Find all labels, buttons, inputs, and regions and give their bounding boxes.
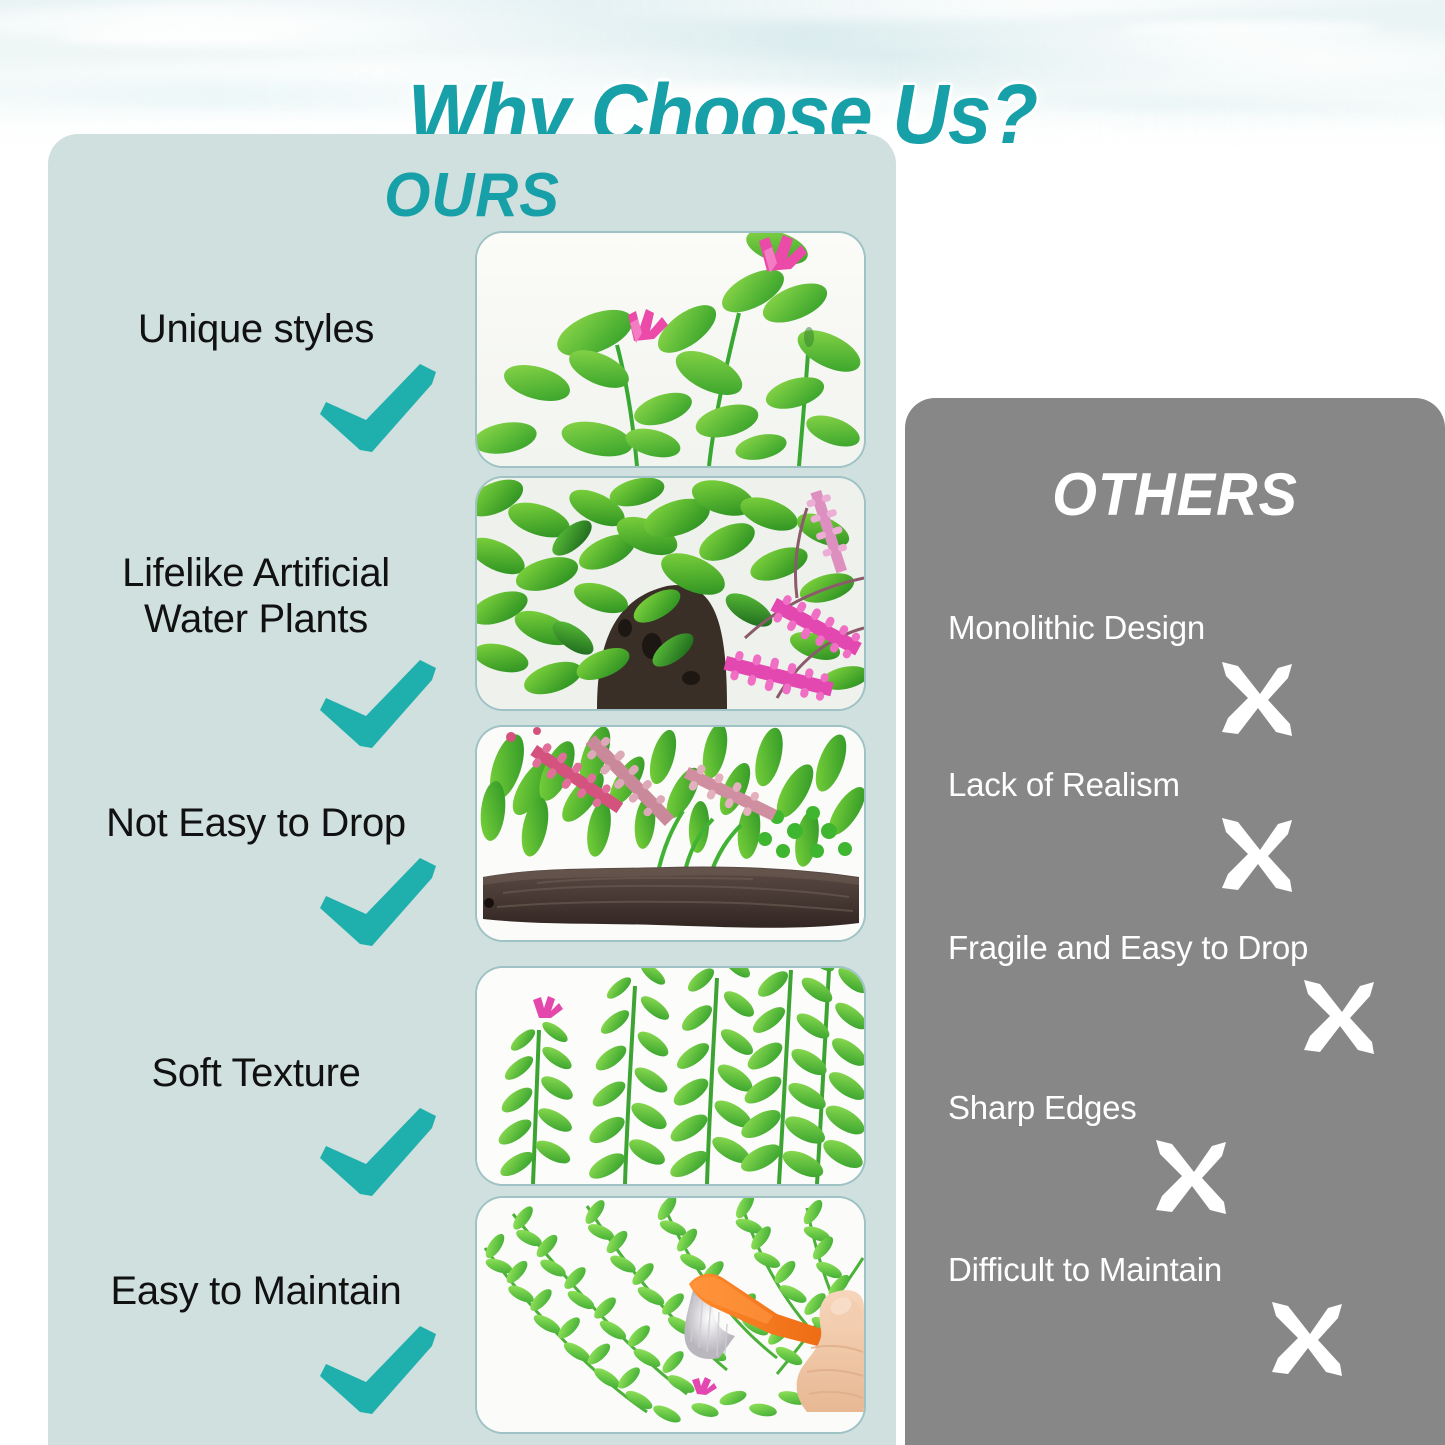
others-item-label: Fragile and Easy to Drop [948,928,1308,968]
ours-heading: OURS [65,160,879,231]
product-photo [477,727,864,940]
others-item-label: Difficult to Maintain [948,1250,1222,1290]
check-icon [316,1106,440,1198]
others-row: Sharp Edges [948,1088,1137,1128]
others-row: Fragile and Easy to Drop [948,928,1308,968]
product-photo-image [477,478,864,709]
check-icon [316,1324,440,1416]
product-photo [477,1198,864,1432]
ours-item-label: Soft Texture [56,1050,456,1096]
check-icon [316,362,440,454]
product-photo [477,233,864,466]
product-photo-image [477,968,864,1184]
others-item-label: Lack of Realism [948,765,1180,805]
check-icon [316,658,440,750]
infographic-stage: Why Choose Us? OURS Unique styles Lifeli… [0,0,1445,1445]
product-photo-image [477,727,864,940]
product-photo-image [477,233,864,466]
others-item-label: Sharp Edges [948,1088,1137,1128]
others-heading: OTHERS [916,460,1434,529]
ours-row: Soft Texture [56,1050,456,1096]
cross-icon [1152,1138,1230,1216]
cross-icon [1218,660,1296,738]
others-row: Lack of Realism [948,765,1180,805]
ours-row: Lifelike Artificial Water Plants [56,550,456,642]
product-photo [477,478,864,709]
others-item-label: Monolithic Design [948,608,1205,648]
ours-row: Unique styles [56,306,456,352]
ours-item-label: Unique styles [56,306,456,352]
check-icon [316,856,440,948]
cross-icon [1300,978,1378,1056]
ours-item-label: Easy to Maintain [56,1268,456,1314]
ours-row: Not Easy to Drop [56,800,456,846]
product-photo-image [477,1198,864,1432]
product-photo [477,968,864,1184]
ours-item-label: Not Easy to Drop [56,800,456,846]
cross-icon [1218,816,1296,894]
others-row: Difficult to Maintain [948,1250,1222,1290]
ours-row: Easy to Maintain [56,1268,456,1314]
cross-icon [1268,1300,1346,1378]
ours-item-label: Lifelike Artificial Water Plants [56,550,456,642]
others-row: Monolithic Design [948,608,1205,648]
